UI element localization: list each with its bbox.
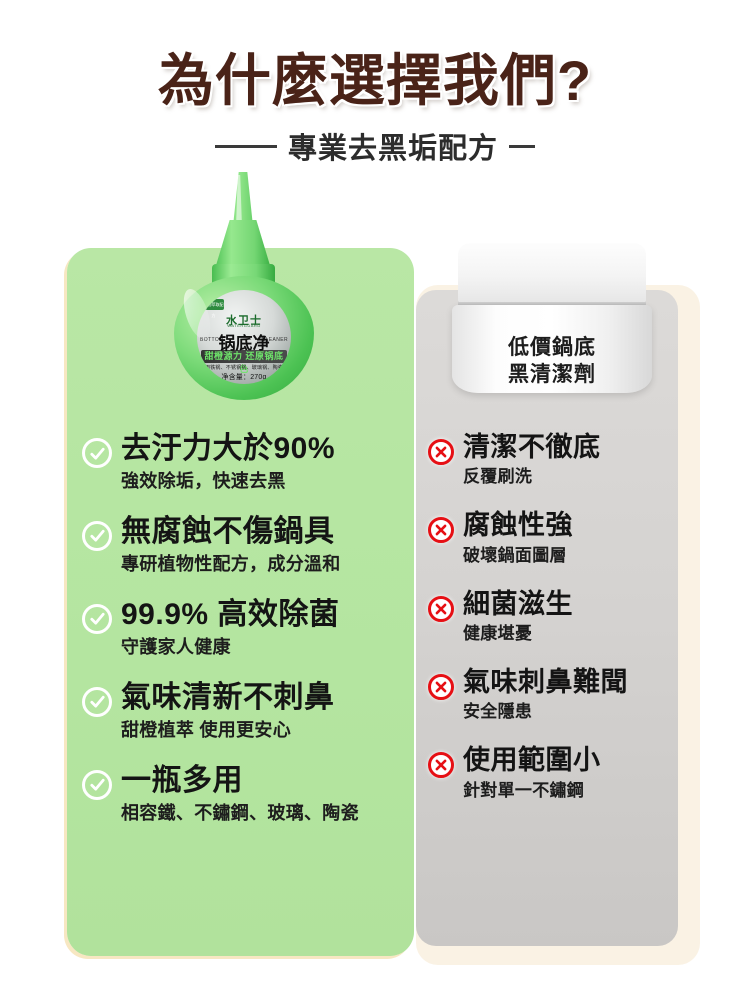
pros-item-sub: 守護家人健康 bbox=[121, 636, 339, 659]
pros-list-item: 去汙力大於90% 強效除垢，快速去黑 bbox=[82, 432, 412, 493]
cons-list: 清潔不徹底 反覆刷洗 腐蝕性強 破壞鍋面圖層 細菌滋生 健康堪憂 bbox=[428, 432, 680, 802]
cons-item-texts: 使用範圍小 針對單一不鏽鋼 bbox=[463, 745, 601, 801]
pros-item-title: 去汙力大於90% bbox=[121, 432, 335, 466]
pros-list-item: 氣味清新不刺鼻 甜橙植萃 使用更安心 bbox=[82, 681, 412, 742]
label-applicable-text: 适用铁锅、不锈钢锅、玻璃锅、陶瓷锅 bbox=[197, 364, 291, 371]
cons-item-texts: 清潔不徹底 反覆刷洗 bbox=[463, 432, 601, 488]
check-circle-icon bbox=[82, 604, 112, 634]
cons-item-sub: 健康堪憂 bbox=[463, 623, 573, 645]
pros-item-sub: 專研植物性配方，成分溫和 bbox=[121, 553, 341, 576]
pros-item-sub: 相容鐵、不鏽鋼、玻璃、陶瓷 bbox=[121, 802, 359, 825]
pros-item-texts: 無腐蝕不傷鍋具 專研植物性配方，成分溫和 bbox=[121, 515, 341, 576]
pros-item-title: 一瓶多用 bbox=[121, 764, 359, 798]
competitor-jar-image: 低價鍋底 黑清潔劑 bbox=[452, 243, 652, 395]
divider-right bbox=[509, 145, 535, 148]
pros-list-item: 一瓶多用 相容鐵、不鏽鋼、玻璃、陶瓷 bbox=[82, 764, 412, 825]
cons-item-title: 清潔不徹底 bbox=[463, 432, 601, 462]
cons-item-sub: 安全隱患 bbox=[463, 701, 628, 723]
jar-lid bbox=[458, 243, 646, 303]
pros-item-title: 氣味清新不刺鼻 bbox=[121, 681, 335, 715]
check-circle-icon bbox=[82, 687, 112, 717]
pros-list: 去汙力大於90% 強效除垢，快速去黑 無腐蝕不傷鍋具 專研植物性配方，成分溫和 … bbox=[82, 432, 412, 825]
cons-item-title: 氣味刺鼻難聞 bbox=[463, 667, 628, 697]
pros-list-item: 無腐蝕不傷鍋具 專研植物性配方，成分溫和 bbox=[82, 515, 412, 576]
subtitle-row: 專業去黑垢配方 bbox=[0, 125, 750, 167]
cons-list-item: 氣味刺鼻難聞 安全隱患 bbox=[428, 667, 680, 723]
pros-item-sub: 甜橙植萃 使用更安心 bbox=[121, 719, 335, 742]
cons-item-title: 細菌滋生 bbox=[463, 589, 573, 619]
pros-item-texts: 去汙力大於90% 強效除垢，快速去黑 bbox=[121, 432, 335, 493]
cons-list-item: 細菌滋生 健康堪憂 bbox=[428, 589, 680, 645]
pros-item-title: 無腐蝕不傷鍋具 bbox=[121, 515, 341, 549]
pros-item-texts: 一瓶多用 相容鐵、不鏽鋼、玻璃、陶瓷 bbox=[121, 764, 359, 825]
pros-item-texts: 氣味清新不刺鼻 甜橙植萃 使用更安心 bbox=[121, 681, 335, 742]
cons-item-sub: 針對單一不鏽鋼 bbox=[463, 780, 601, 802]
pros-item-sub: 強效除垢，快速去黑 bbox=[121, 470, 335, 493]
cross-circle-icon bbox=[428, 596, 454, 622]
comparison-infographic: 為什麼選擇我們? 專業去黑垢配方 低價鍋底 黑清潔劑 植物萃取配方 水卫士 WA… bbox=[0, 0, 750, 1000]
cons-list-item: 使用範圍小 針對單一不鏽鋼 bbox=[428, 745, 680, 801]
jar-label-line1: 低價鍋底 bbox=[452, 335, 652, 362]
bottle-label: 植物萃取配方 水卫士 WATERGUARD BOTTOM CLEANER 锅底净… bbox=[197, 290, 291, 384]
cons-item-title: 腐蝕性強 bbox=[463, 510, 573, 540]
pros-list-item: 99.9% 高效除菌 守護家人健康 bbox=[82, 598, 412, 659]
check-circle-icon bbox=[82, 770, 112, 800]
cons-item-sub: 反覆刷洗 bbox=[463, 466, 601, 488]
jar-label-text: 低價鍋底 黑清潔劑 bbox=[452, 335, 652, 389]
label-claim-strip: 甜橙源力 还原锅底色 bbox=[201, 350, 287, 363]
check-circle-icon bbox=[82, 438, 112, 468]
pros-item-texts: 99.9% 高效除菌 守護家人健康 bbox=[121, 598, 339, 659]
cross-circle-icon bbox=[428, 674, 454, 700]
label-brand-en: WATERGUARD bbox=[197, 323, 291, 328]
page-title: 為什麼選擇我們? bbox=[0, 36, 750, 117]
check-circle-icon bbox=[82, 521, 112, 551]
cross-circle-icon bbox=[428, 439, 454, 465]
cross-circle-icon bbox=[428, 517, 454, 543]
page-subtitle: 專業去黑垢配方 bbox=[288, 125, 498, 167]
label-net-weight: 净含量：270g bbox=[197, 372, 291, 382]
cons-item-texts: 氣味刺鼻難聞 安全隱患 bbox=[463, 667, 628, 723]
cons-item-sub: 破壞鍋面圖層 bbox=[463, 545, 573, 567]
cons-list-item: 腐蝕性強 破壞鍋面圖層 bbox=[428, 510, 680, 566]
cons-item-texts: 細菌滋生 健康堪憂 bbox=[463, 589, 573, 645]
cons-item-texts: 腐蝕性強 破壞鍋面圖層 bbox=[463, 510, 573, 566]
cross-circle-icon bbox=[428, 752, 454, 778]
cons-item-title: 使用範圍小 bbox=[463, 745, 601, 775]
pros-item-title: 99.9% 高效除菌 bbox=[121, 598, 339, 632]
jar-label-line2: 黑清潔劑 bbox=[452, 362, 652, 389]
product-bottle-image: 植物萃取配方 水卫士 WATERGUARD BOTTOM CLEANER 锅底净… bbox=[170, 172, 318, 400]
divider-left bbox=[215, 145, 277, 148]
cons-list-item: 清潔不徹底 反覆刷洗 bbox=[428, 432, 680, 488]
